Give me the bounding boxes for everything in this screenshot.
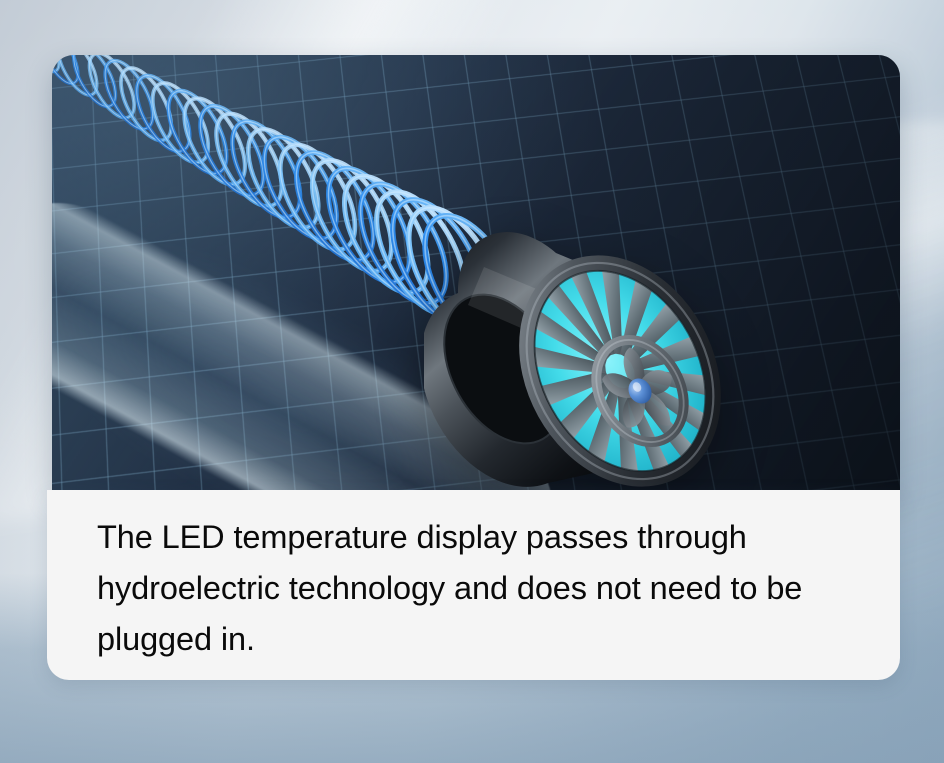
- caption-text: The LED temperature display passes throu…: [97, 512, 870, 665]
- product-feature-caption: The LED temperature display passes throu…: [47, 490, 900, 680]
- product-feature-image: The LED temperature display passes throu…: [0, 0, 944, 763]
- technical-blueprint-panel: [52, 55, 900, 491]
